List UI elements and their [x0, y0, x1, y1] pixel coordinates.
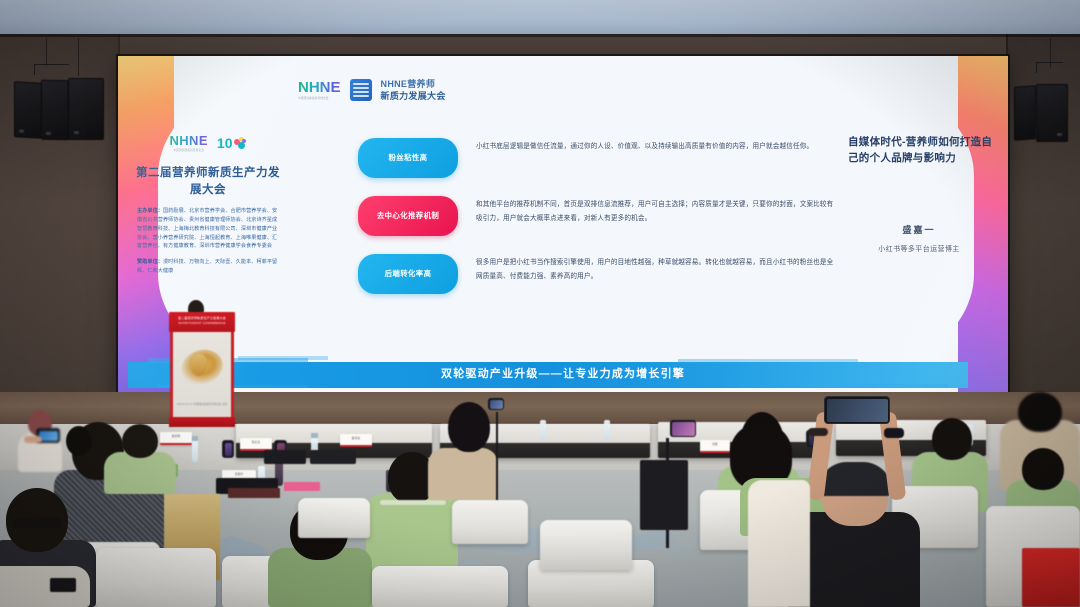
speaker-bracket	[34, 64, 69, 75]
organizers-paragraph: 主办单位：国药励展、北京市营养学会、合肥市营养学会、安徽省公共营养师协会、贵州省…	[132, 207, 284, 251]
phone-held	[50, 578, 76, 592]
tripod-phone	[670, 420, 696, 437]
podium-base	[169, 417, 235, 427]
content-text-1: 小红书底层逻辑是做信任流量，通过你的人设、价值观、以及持续输出高质量有价值的内容…	[476, 138, 840, 154]
slide-content-rows: 粉丝粘性高 小红书底层逻辑是做信任流量，通过你的人设、价值观、以及持续输出高质量…	[358, 138, 840, 312]
chair	[372, 566, 508, 607]
chair	[298, 498, 370, 538]
banner-text: 双轮驱动产业升级——让专业力成为增长引擎	[118, 365, 1008, 381]
conference-photo: NHNE 中国国际健康营养博览会 NHNE营养师 新质力发展大会 NHNE 中国…	[0, 0, 1080, 607]
nhne-logo: NHNE 中国国际健康营养博览会	[169, 134, 207, 152]
name-card: 谢文明	[160, 432, 192, 445]
name-card: 戴秀清	[340, 434, 372, 447]
laptop	[310, 450, 356, 464]
pill-label-1: 粉丝粘性高	[358, 138, 458, 178]
content-row: 去中心化推荐机制 和其他平台的推荐机制不同，首页是双排信息流推荐，用户可自主选择…	[358, 196, 840, 236]
water-bottle	[540, 420, 546, 440]
speaker-bracket	[1036, 62, 1063, 73]
speaker-role: 小红书等多平台运营博主	[844, 244, 994, 254]
pill-label-3: 后端转化率高	[358, 254, 458, 294]
line-array-speaker	[14, 81, 42, 138]
tripod-phone	[488, 398, 504, 410]
ceiling-edge	[0, 34, 1080, 37]
line-array-speaker	[41, 80, 69, 140]
phone-tripod	[496, 412, 498, 504]
folder	[228, 488, 280, 498]
podium-header: 第二届营养师新质生产力发展大会 NUTRITIONIST CONFERENCE	[169, 312, 235, 332]
slide-left-panel: NHNE 中国国际健康营养博览会 10 第二届营养师新质生产力发展大会	[132, 134, 284, 276]
speaker-rig-wire	[46, 38, 47, 66]
red-bag	[1022, 548, 1080, 607]
slide-left-title: 第二届营养师新质生产力发展大会	[132, 165, 284, 198]
content-text-2: 和其他平台的推荐机制不同，首页是双排信息流推荐，用户可自主选择；内容质量才是关键…	[476, 196, 840, 225]
content-text-3: 很多用户是把小红书当作搜索引擎使用，用户的目地性越强，种草就越容易。转化也就越容…	[476, 254, 840, 283]
slide-header-title: NHNE营养师 新质力发展大会	[381, 78, 446, 102]
speaker-name: 盛嘉一	[844, 223, 994, 236]
presentation-slide: NHNE 中国国际健康营养博览会 NHNE营养师 新质力发展大会 NHNE 中国…	[118, 56, 1008, 394]
laptop	[264, 450, 306, 464]
bottle-cap	[192, 436, 198, 441]
chair	[96, 548, 216, 607]
left-panel-logos: NHNE 中国国际健康营养博览会 10	[132, 134, 284, 152]
collar	[380, 500, 446, 505]
slide-topic-title: 自媒体时代-营养师如何打造自己的个人品牌与影响力	[844, 134, 994, 167]
line-array-speaker	[1036, 84, 1068, 142]
line-array-speaker	[68, 78, 104, 140]
content-row: 粉丝粘性高 小红书底层逻辑是做信任流量，通过你的人设、价值观、以及持续输出高质量…	[358, 138, 840, 178]
podium-date: 2025.8.21-23	[177, 403, 192, 406]
chair	[452, 500, 528, 544]
nhne-logo: NHNE 中国国际健康营养博览会	[298, 80, 341, 100]
pink-folder	[284, 482, 320, 491]
glasses-icon	[14, 518, 62, 528]
podium-subtitle: NUTRITIONIST CONFERENCE	[178, 321, 225, 325]
slide-bottom-banner: 双轮驱动产业升级——让专业力成为增长引擎	[118, 354, 1008, 394]
bottle-cap	[311, 433, 318, 438]
slide-right-panel: 自媒体时代-营养师如何打造自己的个人品牌与影响力 盛嘉一 小红书等多平台运营博主	[844, 134, 994, 254]
water-bottle	[604, 420, 610, 440]
sponsors-paragraph: 赞助单位：漫时科技、万物向上、天际壹、久能本、柯菲平留辉、仁和大健康	[132, 258, 284, 276]
chair	[540, 520, 632, 570]
device-on-table	[222, 440, 234, 458]
anniversary-logo-icon: 10	[217, 136, 247, 150]
nhne-square-mark-icon	[350, 79, 372, 101]
podium-title: 第二届营养师新质生产力发展大会	[178, 316, 226, 320]
podium: 第二届营养师新质生产力发展大会 NUTRITIONIST CONFERENCE …	[170, 318, 234, 422]
watch-icon	[884, 428, 904, 438]
audience-person-white-top	[748, 480, 810, 607]
content-row: 后端转化率高 很多用户是把小红书当作搜索引擎使用，用户的目地性越强，种草就越容易…	[358, 254, 840, 294]
podium-venue: 中国国际健康营养博览会·深圳	[193, 403, 228, 406]
slide-header: NHNE 中国国际健康营养博览会 NHNE营养师 新质力发展大会	[298, 78, 446, 102]
arm	[24, 436, 42, 443]
name-card: 包晓	[700, 440, 730, 453]
ceiling	[0, 0, 1080, 38]
av-equipment-case	[640, 460, 688, 530]
led-wall-screen: NHNE 中国国际健康营养博览会 NHNE营养师 新质力发展大会 NHNE 中国…	[118, 56, 1008, 394]
speaker-rig-wire	[78, 38, 79, 76]
phone-held-up	[824, 396, 890, 424]
water-bottle	[192, 440, 198, 462]
pill-label-2: 去中心化推荐机制	[358, 196, 458, 236]
wristband	[808, 428, 828, 436]
line-array-speaker	[1014, 85, 1036, 141]
